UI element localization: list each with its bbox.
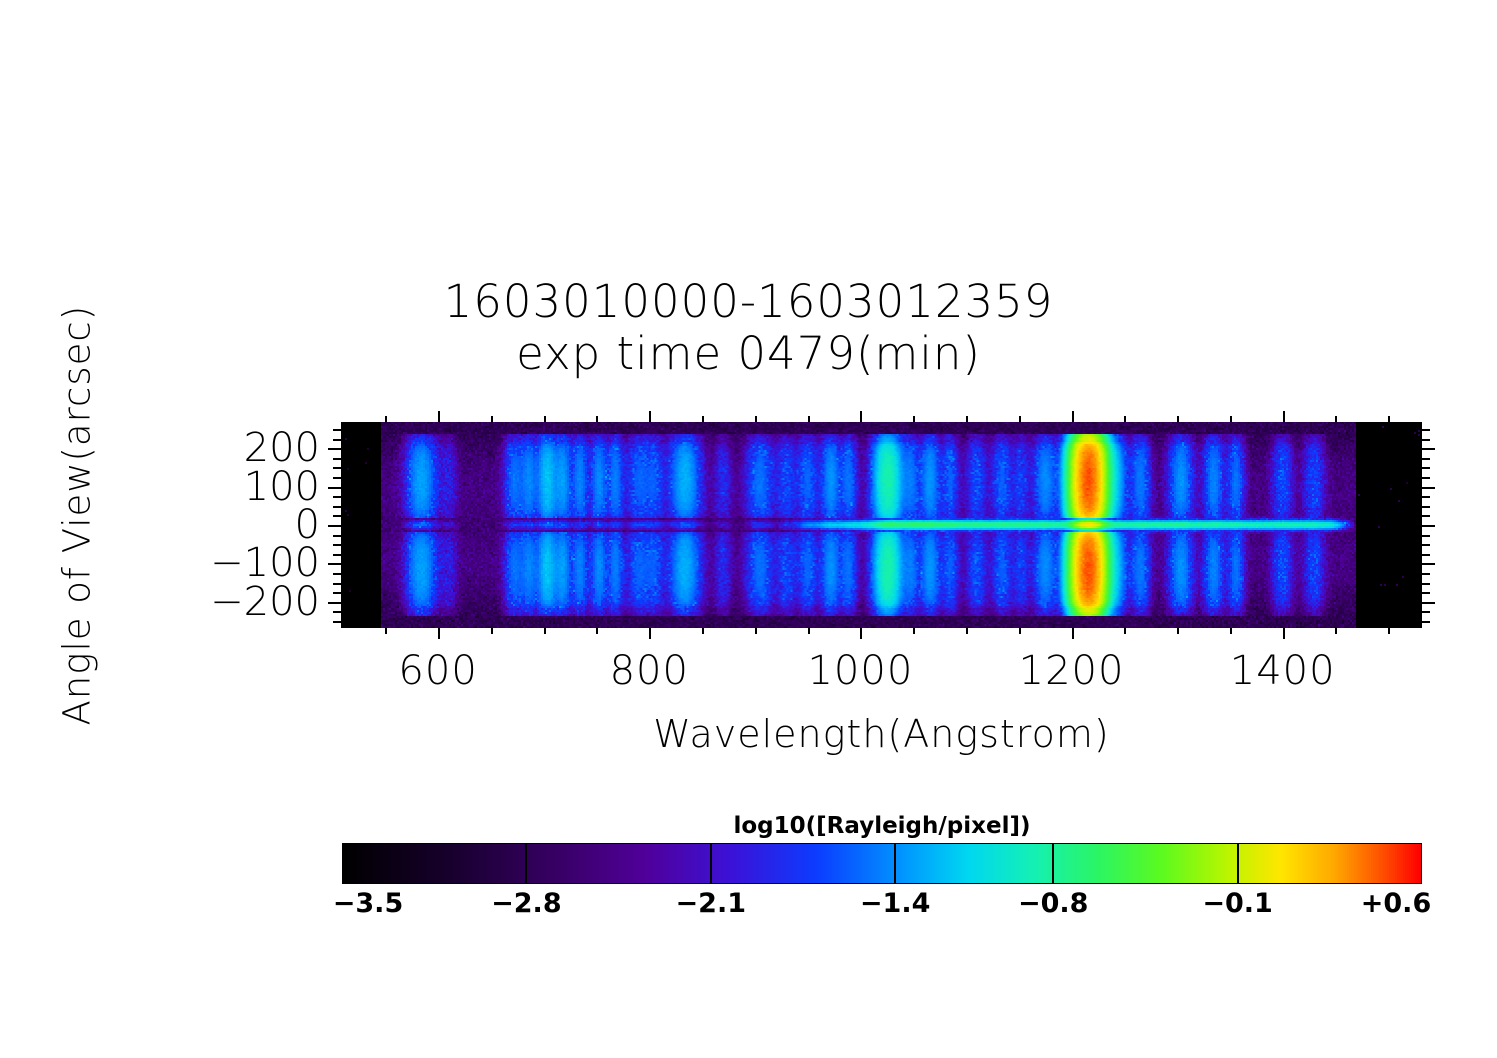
colorbar-tick-label: −0.8 [1018,888,1088,919]
x-axis-minor-tick [544,628,546,634]
x-axis-major-tick [438,628,440,639]
x-axis-minor-tick [755,628,757,634]
x-axis-minor-tick [966,416,968,422]
x-axis-minor-tick [1230,628,1232,634]
colorbar-tick-label: −2.8 [491,888,561,919]
colorbar-tick-label: +0.6 [1361,888,1431,919]
x-axis-minor-tick [491,416,493,422]
x-axis-minor-tick [1124,628,1126,634]
y-axis-minor-tick [1422,621,1430,623]
y-axis-minor-tick [1422,554,1430,556]
y-axis-minor-tick [1422,429,1430,431]
spectrogram-image-panel [341,422,1422,628]
y-axis-major-tick [328,563,341,565]
x-axis-tick-labels: 600800100012001400 [341,648,1422,708]
y-axis-minor-tick [1422,496,1430,498]
y-axis-tick-labels: 2001000−100−200 [180,422,320,628]
y-axis-minor-tick [333,506,341,508]
x-axis-major-tick [1283,411,1285,422]
title-line-exposure: exp time 0479(min) [0,328,1497,380]
x-axis-tick-label: 1000 [807,648,913,694]
y-axis-minor-tick [333,477,341,479]
x-axis-minor-tick [491,628,493,634]
y-axis-minor-tick [333,611,341,613]
x-axis-major-tick [860,411,862,422]
x-axis-major-tick [649,411,651,422]
x-axis-minor-tick [1388,628,1390,634]
x-axis-major-tick [438,411,440,422]
y-axis-minor-tick [1422,458,1430,460]
x-axis-minor-tick [596,628,598,634]
x-axis-major-tick [1072,628,1074,639]
x-axis-minor-tick [1019,416,1021,422]
y-axis-minor-tick [1422,583,1430,585]
page-title: 1603010000-1603012359 exp time 0479(min) [0,276,1497,380]
y-axis-major-tick [1422,448,1435,450]
x-axis-minor-tick [1177,416,1179,422]
colorbar-title: log10([Rayleigh/pixel]) [342,813,1422,839]
x-axis-tick-label: 1400 [1230,648,1336,694]
x-axis-minor-tick [808,416,810,422]
y-axis-major-tick [1422,487,1435,489]
x-axis-major-tick [860,628,862,639]
y-axis-minor-tick [1422,477,1430,479]
x-axis-minor-tick [385,628,387,634]
y-axis-minor-tick [1422,439,1430,441]
x-axis-minor-tick [1335,628,1337,634]
colorbar-tick-label: −1.4 [860,888,930,919]
y-axis-minor-tick [333,583,341,585]
y-axis-major-tick [1422,563,1435,565]
x-axis-tick-label: 1200 [1019,648,1125,694]
colorbar-gradient [343,844,1421,883]
x-axis-minor-tick [755,416,757,422]
colorbar-tick-label: −2.1 [676,888,746,919]
y-axis-major-tick [1422,602,1435,604]
x-axis-minor-tick [596,416,598,422]
x-axis-ticks-bottom [341,628,1422,642]
y-axis-minor-tick [333,535,341,537]
y-axis-ticks-right [1422,422,1438,628]
y-axis-major-tick [328,487,341,489]
y-axis-minor-tick [333,496,341,498]
y-axis-minor-tick [333,429,341,431]
y-axis-minor-tick [333,467,341,469]
x-axis-minor-tick [544,416,546,422]
y-axis-major-tick [328,525,341,527]
x-axis-minor-tick [808,628,810,634]
x-axis-minor-tick [913,416,915,422]
x-axis-minor-tick [702,628,704,634]
y-axis-minor-tick [1422,611,1430,613]
x-axis-minor-tick [913,628,915,634]
colorbar-tick-label: −0.1 [1202,888,1272,919]
colorbar-tick-label: −3.5 [333,888,403,919]
x-axis-ticks-top [341,408,1422,422]
y-axis-ticks-left [325,422,341,628]
x-axis-minor-tick [1177,628,1179,634]
y-axis-tick-label: −200 [210,579,320,625]
x-axis-title: Wavelength(Angstrom) [341,712,1422,756]
x-axis-minor-tick [702,416,704,422]
y-axis-minor-tick [333,458,341,460]
spectrogram-canvas [341,422,1422,628]
x-axis-minor-tick [1388,416,1390,422]
y-axis-minor-tick [333,544,341,546]
y-axis-minor-tick [1422,592,1430,594]
x-axis-minor-tick [1019,628,1021,634]
y-axis-title: Angle of View(arcsec) [56,306,99,726]
x-axis-tick-label: 800 [610,648,689,694]
x-axis-major-tick [1072,411,1074,422]
y-axis-minor-tick [1422,467,1430,469]
y-axis-minor-tick [333,592,341,594]
y-axis-minor-tick [333,515,341,517]
x-axis-minor-tick [1230,416,1232,422]
x-axis-tick-label: 600 [398,648,477,694]
x-axis-minor-tick [1124,416,1126,422]
colorbar-tick-labels: −3.5−2.8−2.1−1.4−0.8−0.1+0.6 [342,888,1422,928]
colorbar [342,843,1422,884]
y-axis-minor-tick [1422,573,1430,575]
y-axis-major-tick [328,602,341,604]
y-axis-minor-tick [333,573,341,575]
x-axis-minor-tick [966,628,968,634]
title-line-obs-id: 1603010000-1603012359 [444,275,1054,328]
y-axis-minor-tick [1422,515,1430,517]
y-axis-minor-tick [1422,544,1430,546]
y-axis-minor-tick [333,621,341,623]
y-axis-minor-tick [1422,535,1430,537]
y-axis-minor-tick [1422,506,1430,508]
y-axis-major-tick [1422,525,1435,527]
y-axis-minor-tick [333,439,341,441]
x-axis-minor-tick [1335,416,1337,422]
y-axis-major-tick [328,448,341,450]
y-axis-minor-tick [333,554,341,556]
x-axis-major-tick [649,628,651,639]
x-axis-minor-tick [385,416,387,422]
x-axis-major-tick [1283,628,1285,639]
